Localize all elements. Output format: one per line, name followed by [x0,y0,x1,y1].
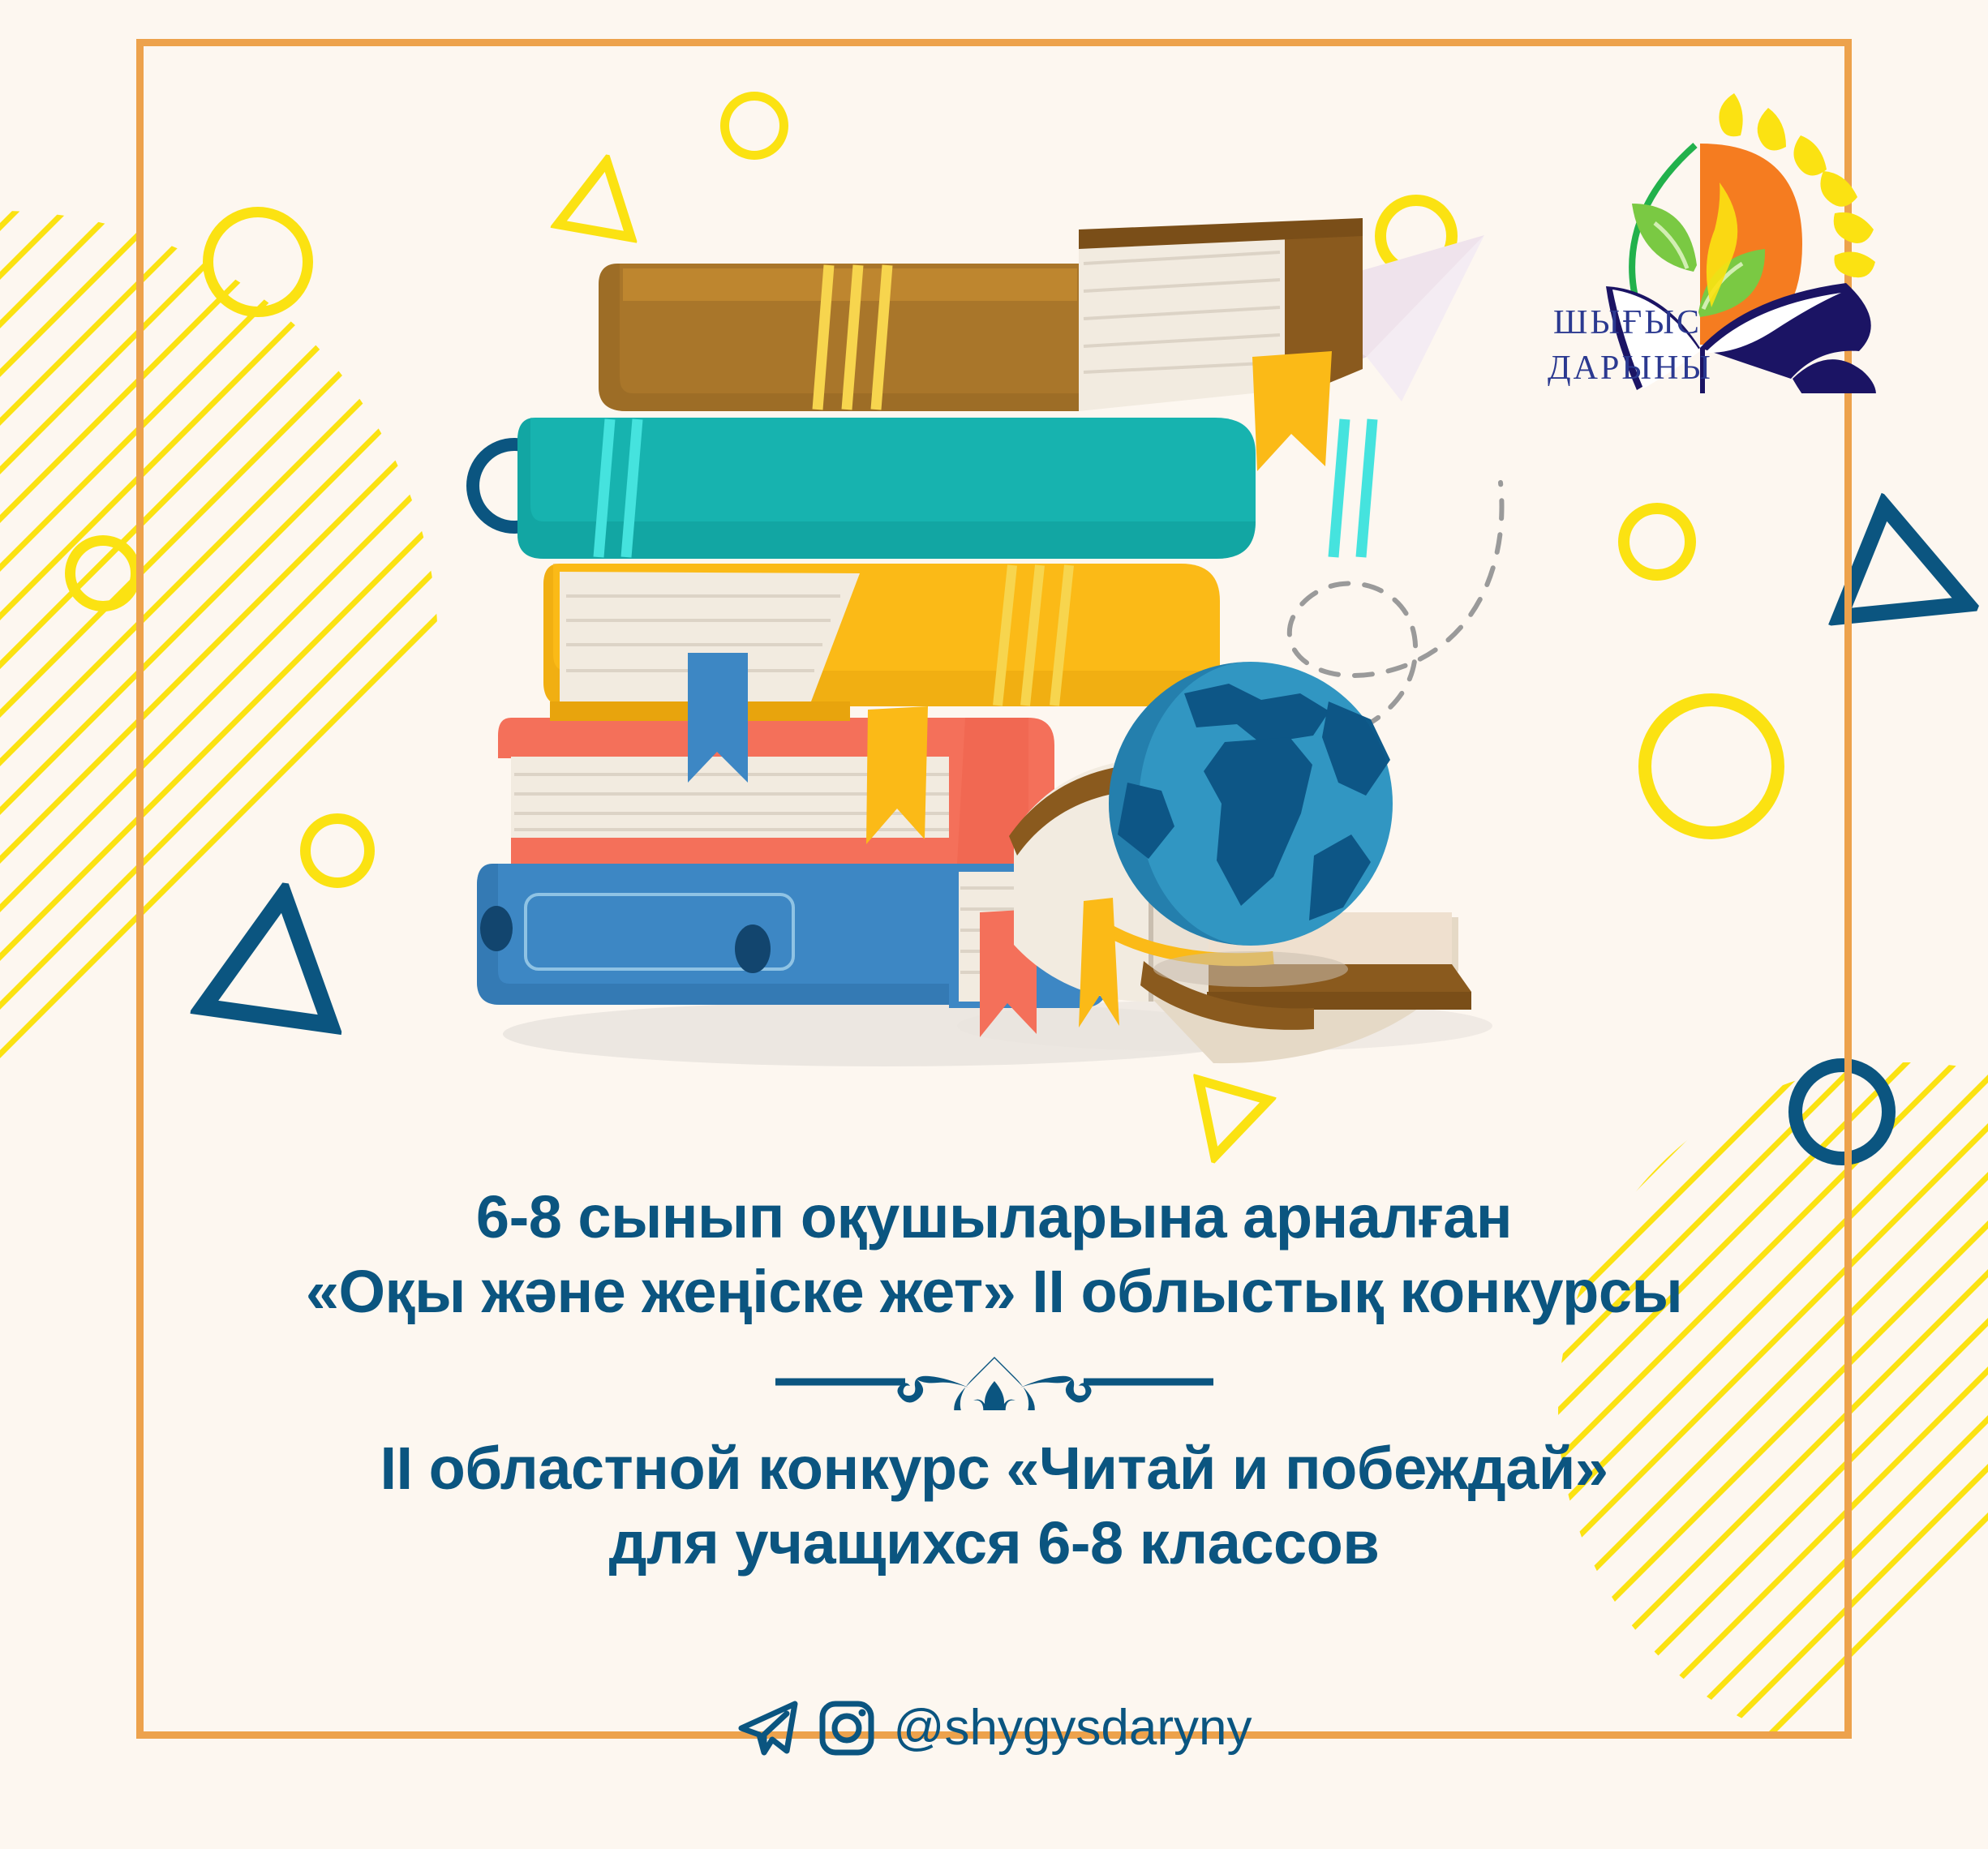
russian-heading-line1: II областной конкурс «Читай и побеждай» [0,1431,1988,1506]
teal-book [517,418,1372,559]
instagram-icon[interactable] [818,1699,876,1757]
yellow-ring-6 [1618,503,1696,581]
yellow-ring-2 [720,92,788,160]
yellow-ring-4 [300,813,375,888]
brown-book [599,218,1363,411]
heading-block: 6-8 сынып оқушыларына арналған «Оқы және… [0,1180,1988,1581]
logo-text-line1: ШЫҒЫС [1553,304,1702,341]
social-handles: @shygysdaryny [0,1699,1988,1757]
logo-text-line2: ДАРЫНЫ [1548,350,1713,387]
books-illustration [430,215,1574,1131]
social-handle-text[interactable]: @shygysdaryny [894,1700,1252,1757]
yellow-book [543,564,1220,721]
yellow-ring-1 [203,207,313,317]
blue-ring-2 [1788,1058,1896,1165]
russian-heading-line2: для учащихся 6-8 классов [0,1506,1988,1581]
organization-logo: ШЫҒЫС ДАРЫНЫ [1525,69,1906,393]
globe-icon [1109,662,1393,946]
blue-triangle-1 [189,873,361,1045]
yellow-ring-7 [1638,693,1784,839]
poster-canvas: ШЫҒЫС ДАРЫНЫ 6-8 сынып оқушыларына арнал… [0,0,1988,1849]
kazakh-heading-line1: 6-8 сынып оқушыларына арналған [0,1180,1988,1255]
blue-triangle-2 [1820,490,1988,675]
coral-book [498,718,1054,864]
telegram-icon[interactable] [736,1699,800,1757]
yellow-ring-3 [65,535,141,611]
ornament-divider [767,1354,1222,1410]
kazakh-heading-line2: «Оқы және жеңіске жет» II облыстық конку… [0,1255,1988,1329]
